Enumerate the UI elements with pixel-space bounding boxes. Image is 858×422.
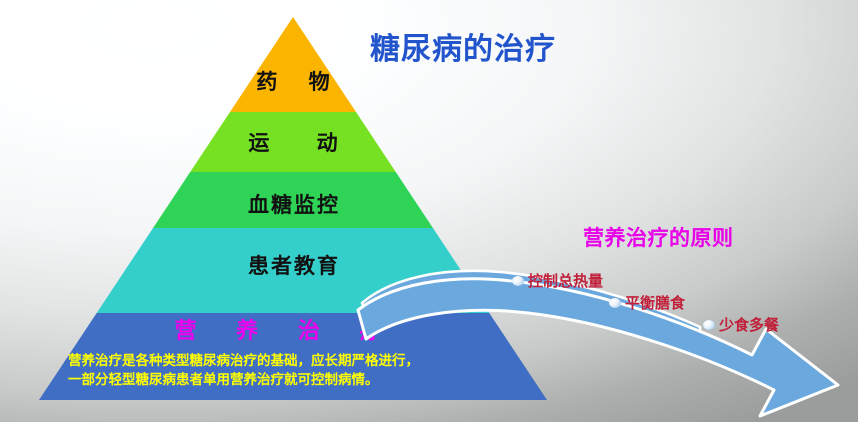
callout-bullet-icon-2 — [703, 320, 715, 330]
page-title: 糖尿病的治疗 — [370, 24, 556, 68]
pyramid-base-body-line-1: 营养治疗是各种类型糖尿病治疗的基础，应长期严格进行， — [68, 352, 460, 371]
pyramid-tier-3-glucose — [0, 172, 858, 228]
callout-bullet-icon-1 — [609, 298, 621, 308]
pyramid-base-title: 营 养 治 疗 — [118, 313, 438, 345]
pyramid-tier-2-exercise — [0, 112, 858, 172]
callout-label-balanced-diet: 平衡膳食 — [625, 292, 685, 313]
section-title-nutrition-principles: 营养治疗的原则 — [583, 222, 734, 252]
pyramid-base-body: 营养治疗是各种类型糖尿病治疗的基础，应长期严格进行， 一部分轻型糖尿病患者单用营… — [68, 352, 460, 390]
slide-canvas: 药 物 运 动 血糖监控 患者教育 营 养 治 疗 营养治疗是各种类型糖尿病治疗… — [0, 0, 858, 422]
pyramid-tier-label-drug: 药 物 — [213, 66, 373, 96]
pyramid-tier-label-patient-education: 患者教育 — [198, 250, 388, 280]
callout-bullet-icon-0 — [512, 276, 524, 286]
callout-label-small-frequent-meals: 少食多餐 — [719, 314, 779, 335]
pyramid-base-body-line-2: 一部分轻型糖尿病患者单用营养治疗就可控制病情。 — [68, 371, 460, 390]
pyramid-tier-label-exercise: 运 动 — [208, 127, 378, 157]
pyramid-tier-label-glucose-monitoring: 血糖监控 — [203, 189, 383, 219]
callout-label-calorie-control: 控制总热量 — [528, 270, 603, 291]
